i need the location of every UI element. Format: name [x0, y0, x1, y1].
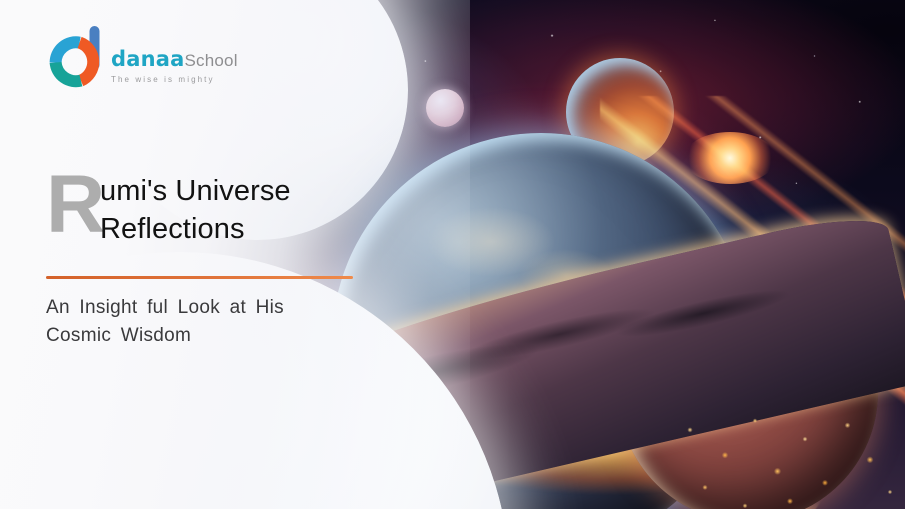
brand-logo-text: danaaSchool The wise is mighty	[111, 49, 238, 92]
subtitle-line-2: Cosmic Wisdom	[46, 322, 376, 350]
brand-tagline: The wise is mighty	[111, 75, 238, 84]
course-banner: danaaSchool The wise is mighty R umi's U…	[0, 0, 905, 509]
title-divider	[46, 276, 353, 279]
page-title: R umi's Universe Reflections	[46, 172, 446, 248]
glowing-embers	[660, 400, 905, 509]
brand-name: danaa	[111, 47, 185, 71]
brand-name-row: danaaSchool	[111, 49, 238, 70]
orange-star-flare-upper	[684, 132, 776, 184]
brand-suffix: School	[185, 51, 238, 70]
title-line-2: Reflections	[100, 210, 446, 248]
title-dropcap: R	[46, 170, 103, 241]
subtitle: An Insight ful Look at His Cosmic Wisdom	[46, 294, 376, 350]
danaa-d-ring-logo-icon	[47, 26, 105, 92]
subtitle-line-1: An Insight ful Look at His	[46, 294, 376, 322]
title-line-1: umi's Universe	[100, 172, 446, 210]
brand-logo[interactable]: danaaSchool The wise is mighty	[47, 26, 238, 92]
